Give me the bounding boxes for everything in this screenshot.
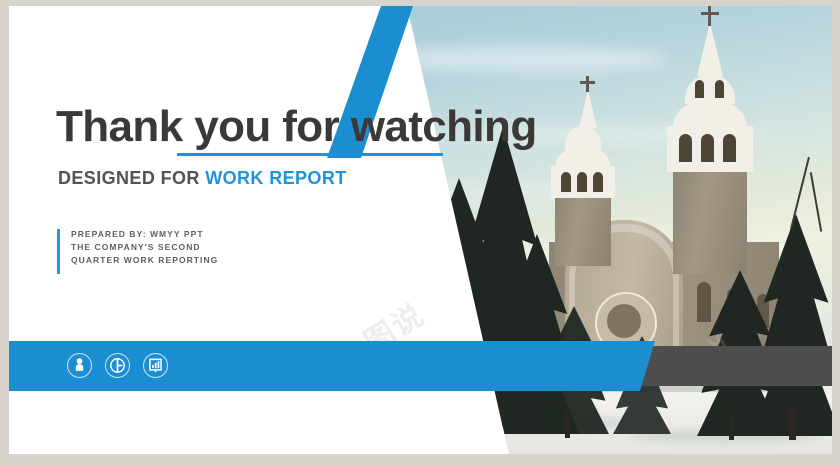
- cross-left-vertical: [586, 76, 589, 92]
- cloud-streak: [369, 46, 669, 72]
- prepared-by-accent-bar: [57, 229, 60, 274]
- gray-accent-bar: [641, 346, 832, 386]
- tree-trunk: [497, 404, 503, 438]
- tree-trunk: [729, 414, 734, 440]
- tower-left-dome: [555, 148, 611, 168]
- belfry-opening: [701, 134, 714, 162]
- tower-right-shaft: [673, 168, 747, 274]
- belfry-opening: [561, 172, 571, 192]
- tower-right-spire: [697, 22, 723, 76]
- presentation-chart-icon[interactable]: [143, 353, 168, 378]
- rose-window-center: [607, 304, 641, 338]
- prepared-by-line: QUARTER WORK REPORTING: [71, 254, 218, 267]
- subtitle: DESIGNED FOR WORK REPORT: [58, 168, 347, 189]
- belfry-opening: [723, 134, 736, 162]
- belfry-opening: [577, 172, 587, 192]
- clock-icon[interactable]: [105, 353, 130, 378]
- subtitle-highlight: WORK REPORT: [205, 168, 346, 188]
- tower-left-shaft: [555, 194, 611, 266]
- title-underline: [177, 153, 443, 156]
- tower-left-spire: [579, 90, 597, 128]
- nave-window: [697, 282, 711, 322]
- footer-blue-bar: [9, 341, 655, 391]
- prepared-by-block: PREPARED BY: WMYY PPT THE COMPANY'S SECO…: [71, 228, 218, 267]
- cross-left-horizontal: [580, 81, 595, 84]
- prepared-by-line: THE COMPANY'S SECOND: [71, 241, 218, 254]
- belfry-opening: [593, 172, 603, 192]
- cupola-opening: [715, 80, 724, 98]
- cupola-opening: [695, 80, 704, 98]
- tower-right-dome: [673, 102, 747, 128]
- person-icon[interactable]: [67, 353, 92, 378]
- tree-trunk: [789, 408, 796, 440]
- cross-right-horizontal: [701, 12, 719, 15]
- tree-trunk: [565, 410, 570, 438]
- belfry-opening: [679, 134, 692, 162]
- prepared-by-line: PREPARED BY: WMYY PPT: [71, 228, 218, 241]
- page-title: Thank you for watching: [56, 102, 537, 152]
- cross-right-vertical: [708, 6, 711, 26]
- slide-canvas: 图说 Thank you for watching DESIGNED FOR W…: [9, 6, 832, 454]
- subtitle-prefix: DESIGNED FOR: [58, 168, 205, 188]
